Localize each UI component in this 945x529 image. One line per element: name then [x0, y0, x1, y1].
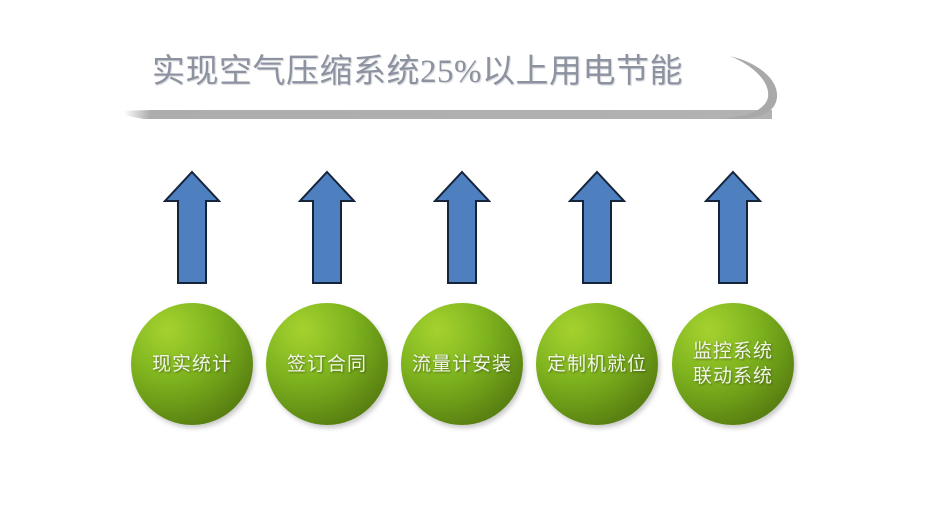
up-arrow-icon-1 [163, 170, 221, 286]
title-underline-bar [124, 110, 772, 119]
process-node-label: 现实统计 [148, 352, 236, 377]
up-arrow-icon-4 [568, 170, 626, 286]
up-arrow-icon-5 [704, 170, 762, 286]
process-node-5[interactable]: 监控系统 联动系统 [672, 303, 794, 425]
slide-canvas: 实现空气压缩系统25%以上用电节能 现实统计 签订合同 流量计安装 定制机 [0, 0, 945, 529]
process-node-2[interactable]: 签订合同 [266, 303, 388, 425]
process-node-label: 定制机就位 [543, 352, 651, 377]
process-node-label: 监控系统 联动系统 [689, 339, 777, 389]
page-title: 实现空气压缩系统25%以上用电节能 [152, 50, 752, 94]
process-node-label: 流量计安装 [408, 352, 516, 377]
title-banner: 实现空气压缩系统25%以上用电节能 [0, 0, 945, 150]
process-node-4[interactable]: 定制机就位 [536, 303, 658, 425]
up-arrow-icon-2 [298, 170, 356, 286]
process-node-label: 签订合同 [283, 352, 371, 377]
process-node-3[interactable]: 流量计安装 [401, 303, 523, 425]
process-node-1[interactable]: 现实统计 [131, 303, 253, 425]
up-arrow-icon-3 [433, 170, 491, 286]
